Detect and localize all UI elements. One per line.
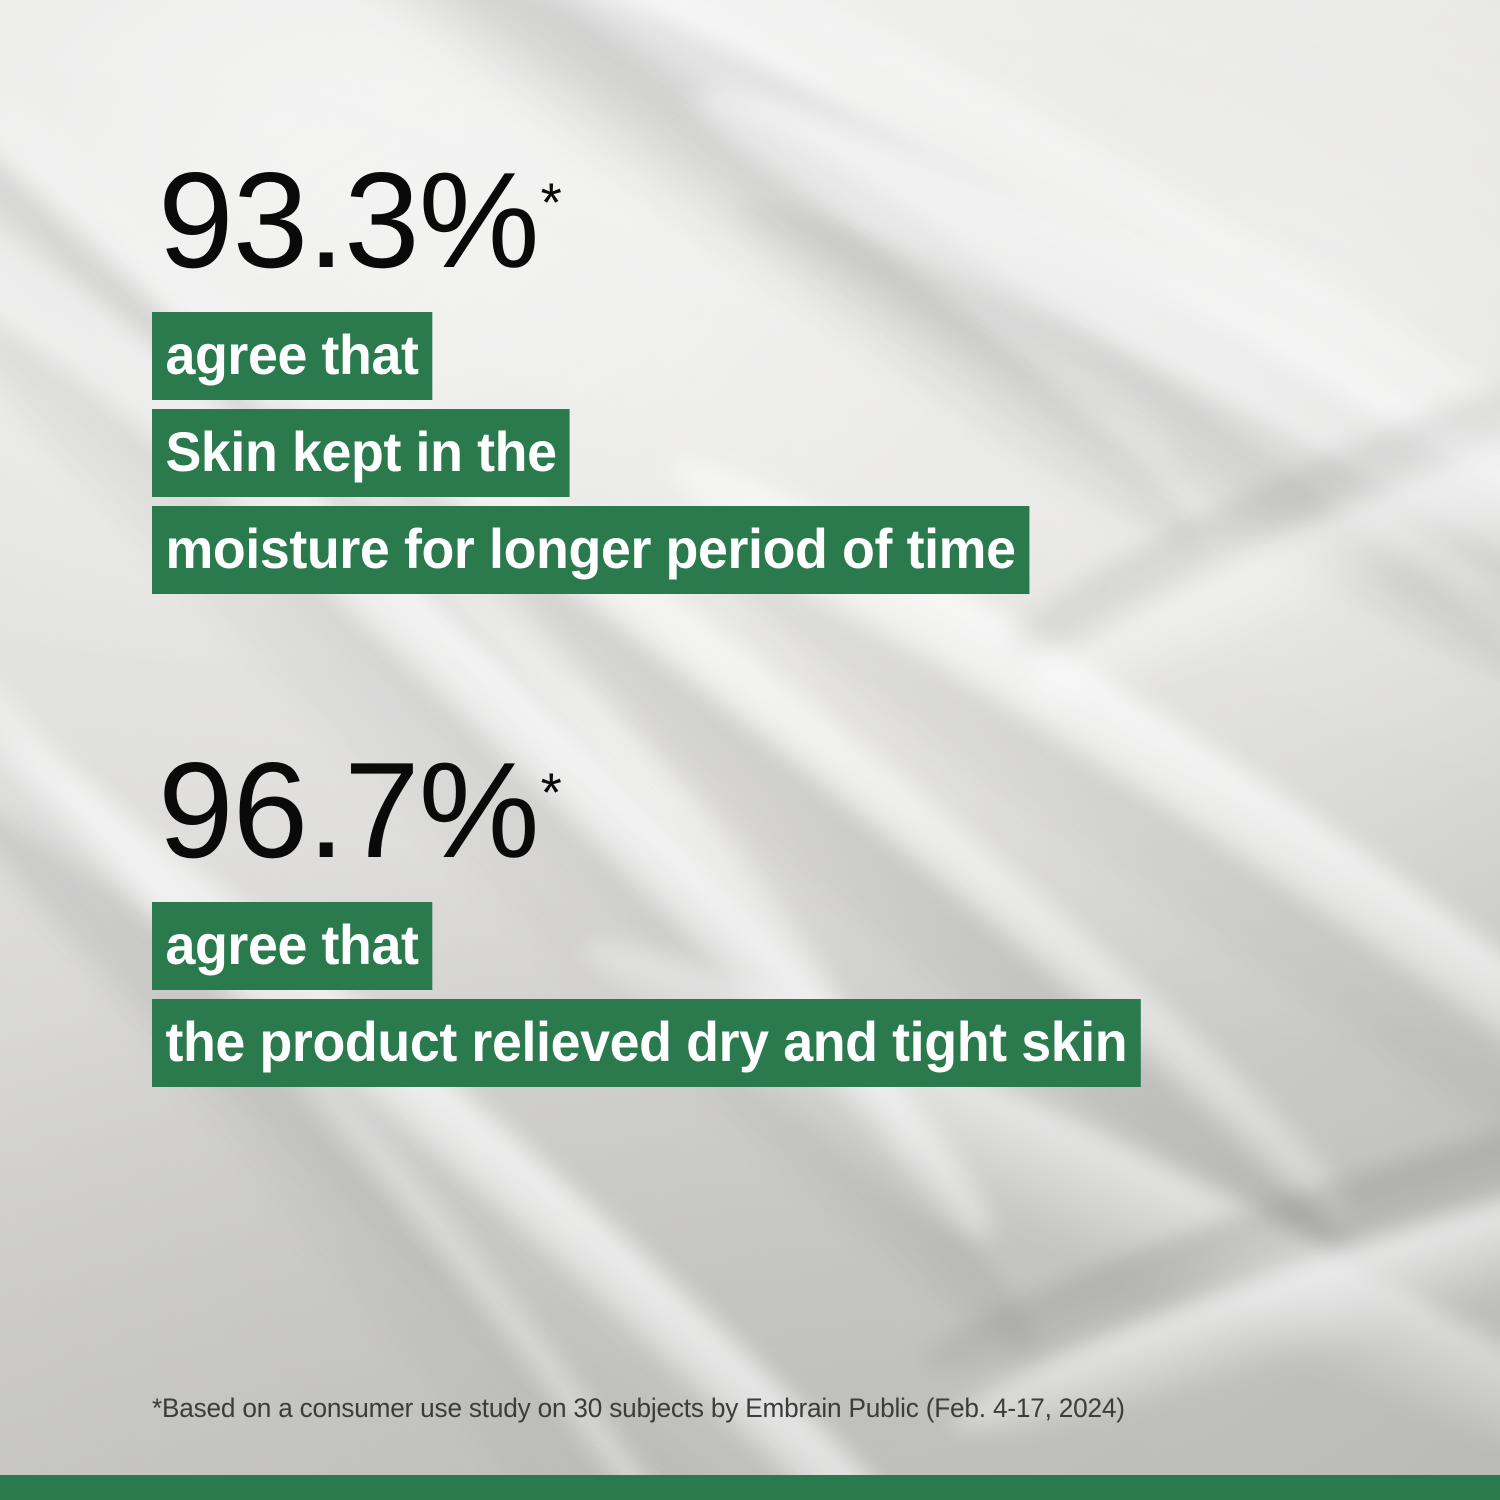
- claim-2-highlight-lines: agree that the product relieved dry and …: [152, 902, 1182, 1087]
- claim-2-percent-value: 96.7%: [158, 734, 539, 886]
- claim-1-percent: 93.3%*: [158, 152, 1066, 288]
- bottom-brand-band: [0, 1475, 1500, 1500]
- claims-content: 93.3%* agree that Skin kept in the moist…: [0, 0, 1500, 1500]
- claim-2-line-2: the product relieved dry and tight skin: [152, 999, 1141, 1087]
- claim-1-highlight-lines: agree that Skin kept in the moisture for…: [152, 312, 1066, 594]
- claim-block-2: 96.7%* agree that the product relieved d…: [152, 742, 1182, 1087]
- claim-2-percent: 96.7%*: [158, 742, 1182, 878]
- claim-1-line-1: agree that: [152, 312, 432, 400]
- claim-2-line-1: agree that: [152, 902, 432, 990]
- claim-1-footnote-marker: *: [541, 172, 562, 233]
- study-footnote: *Based on a consumer use study on 30 sub…: [152, 1392, 1125, 1424]
- marketing-claim-image: 93.3%* agree that Skin kept in the moist…: [0, 0, 1500, 1500]
- claim-2-footnote-marker: *: [541, 762, 562, 823]
- claim-1-line-2: Skin kept in the: [152, 409, 570, 497]
- claim-1-percent-value: 93.3%: [158, 144, 539, 296]
- claim-block-1: 93.3%* agree that Skin kept in the moist…: [152, 152, 1066, 594]
- claim-1-line-3: moisture for longer period of time: [152, 506, 1029, 594]
